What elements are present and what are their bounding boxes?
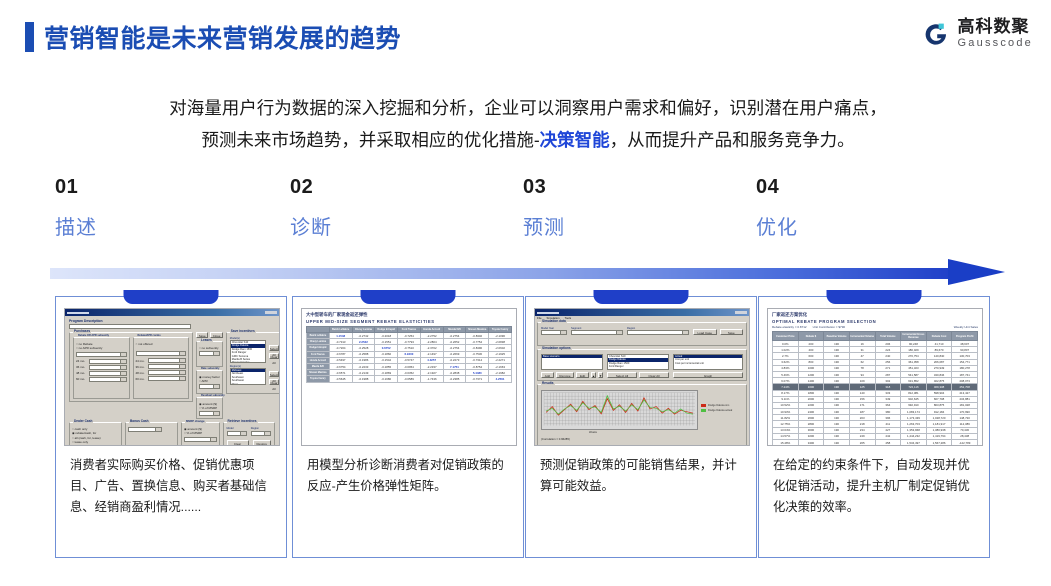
select-all-models-button[interactable]: Select All xyxy=(269,345,279,351)
model-select-list[interactable]: Chevrolet S10 Dodge Dakota Dodge Ram 150… xyxy=(607,354,669,370)
group-label-save-incentives: Save incentives xyxy=(230,329,256,333)
group-label-program-description: Program Description xyxy=(69,319,277,323)
card-describe[interactable]: Program Description Purchases Rebate OR … xyxy=(55,296,287,558)
term-36mo-label: 36 mo. xyxy=(76,365,88,369)
optim-cell: -122,789 xyxy=(952,440,978,446)
step-number: 04 xyxy=(756,176,966,199)
arrow-shaft xyxy=(50,268,955,279)
optim-col-header: Incremental Volume xyxy=(849,332,875,341)
matrix-cell: -0.2385 xyxy=(443,376,466,382)
optim-cell: 265 xyxy=(849,440,875,446)
matrix-cell: 4.2561 xyxy=(489,376,512,382)
model-list[interactable]: Chevrolet S10 Dodge Dakota Dodge Ram 150… xyxy=(230,340,266,363)
screenshot-program-description: Program Description Purchases Rebate OR … xyxy=(64,308,280,446)
card-tab xyxy=(124,290,219,304)
optim-col-header: Program Profit xyxy=(952,332,978,341)
table-sub-unit-sales: Weekly Unit Sales xyxy=(954,325,978,329)
matrix-cell: -0.6589 xyxy=(398,376,421,382)
bonus-cash-select[interactable] xyxy=(128,427,162,432)
title-accent-bar xyxy=(25,22,34,52)
step-number: 01 xyxy=(55,176,265,199)
term-36mo-select[interactable] xyxy=(89,365,127,370)
group-label-bonus-cash: Bonus Cash xyxy=(129,419,150,423)
optim-cell: 1,567,286 xyxy=(926,440,952,446)
combo-term-36mo-label: 36 mo. xyxy=(136,365,147,369)
lead-line-1: 对海量用户行为数据的深入挖掘和分析，企业可以洞察用户需求和偏好，识别潜在用户痛点… xyxy=(52,92,1004,124)
step-02: 02 诊断 xyxy=(290,176,500,240)
group-label-dealer-cash: Dealer Cash xyxy=(73,419,93,423)
combo-term-36mo-select[interactable] xyxy=(148,364,187,369)
step-03: 03 预测 xyxy=(523,176,733,240)
load-case-button[interactable]: Load Case xyxy=(693,329,717,335)
step-label: 预测 xyxy=(523,211,733,240)
screenshot-optimal-rebate: 厂家返还方案优化 OPTIMAL REBATE PROGRAM SELECTIO… xyxy=(767,308,983,446)
group-label-rebate-apr-subvently: Rebate OR APR subvently xyxy=(77,334,110,337)
combo-term-48mo-label: 48 mo. xyxy=(136,371,147,375)
group-label-rebate-apr-combo: Rebate/APR combo xyxy=(137,334,162,337)
card-tab xyxy=(594,290,689,304)
step-01: 01 描述 xyxy=(55,176,265,240)
move-down-button[interactable]: ▼ xyxy=(598,372,603,378)
optim-col-header: Total Volume xyxy=(875,332,901,341)
term-60mo-label: 60 mo. xyxy=(76,377,88,381)
table-title-en: UPPER MID-SIZE SEGMENT REBATE ELASTICITI… xyxy=(306,319,512,324)
simulation-chart xyxy=(541,390,698,430)
group-label-leases: Leases xyxy=(200,338,213,342)
slide-header: 营销智能是未来营销发展的趋势 高科数聚 Gausscode xyxy=(0,0,1051,70)
legend-item-sim: Dodge Dakota sim xyxy=(701,404,743,407)
group-label-rate-subvently: Rate subvently xyxy=(200,367,220,370)
card-optimize[interactable]: 厂家返还方案优化 OPTIMAL REBATE PROGRAM SELECTIO… xyxy=(758,296,990,558)
matrix-cell: -0.5645 xyxy=(329,376,352,382)
page-title: 营销智能是未来营销发展的趋势 xyxy=(44,19,401,55)
table-title-cn: 厂家返还方案优化 xyxy=(772,312,978,318)
elasticity-matrix: Buick LeSabreChevy LuminaDodge IntrepidF… xyxy=(306,326,512,383)
select-all-button[interactable]: Select All xyxy=(607,372,637,378)
msrp-value-select[interactable] xyxy=(184,437,217,442)
combo-term-48mo-select[interactable] xyxy=(148,370,187,375)
card-caption: 消费者实际购买价格、促销优惠项目、广告、置换信息、购买者基础信息、经销商盈利情况… xyxy=(70,455,274,518)
lead-line-2: 预测未来市场趋势，并采取相应的优化措施-决策智能，从而提升产品和服务竞争力。 xyxy=(52,124,1004,156)
group-label-simulation-data: Simulation data xyxy=(541,319,567,323)
term-60mo-select[interactable] xyxy=(89,377,127,382)
lead-highlight: 决策智能 xyxy=(540,130,610,150)
card-tab xyxy=(827,290,922,304)
card-caption: 用模型分析诊断消费者对促销政策的反应-产生价格弹性矩阵。 xyxy=(307,455,511,497)
region-select[interactable] xyxy=(627,330,689,335)
optim-col-header: Incremental Gross Revenue xyxy=(901,332,927,341)
subvently-amount-select[interactable] xyxy=(76,352,127,357)
model-option[interactable]: Nissan Frontier xyxy=(231,361,265,363)
step-label: 优化 xyxy=(756,211,966,240)
window-title-bar xyxy=(535,309,749,316)
table-title-cn: 大中型轿车的厂家现金返还弹性 xyxy=(306,312,512,318)
optim-cell: 15.48% xyxy=(773,440,799,446)
lease-cash-select[interactable] xyxy=(199,351,220,356)
legend-item-actual: Dodge Dakota actual xyxy=(701,409,743,412)
step-number: 02 xyxy=(290,176,500,199)
combo-amount-select[interactable] xyxy=(136,351,187,356)
graph-button[interactable]: Graph xyxy=(673,372,743,378)
optim-cell: 190 xyxy=(824,440,850,446)
clear-all-models-button[interactable]: Clear All xyxy=(269,353,279,359)
optim-cell: 1,534,497 xyxy=(901,440,927,446)
clear-all-button[interactable]: Clear All xyxy=(639,372,669,378)
screenshot-simulation: File Simulation Tools Simulation data Mo… xyxy=(534,308,750,446)
optimization-table: Customer PriceRebate $Baseline VolumeInc… xyxy=(772,331,978,446)
legend-label-sim: Dodge Dakota sim xyxy=(708,404,729,407)
group-label-msrp-change: MSRP change xyxy=(185,419,206,423)
step-label: 描述 xyxy=(55,211,265,240)
card-predict[interactable]: File Simulation Tools Simulation data Mo… xyxy=(525,296,757,558)
step-number: 03 xyxy=(523,176,733,199)
combo-term-24mo-select[interactable] xyxy=(148,358,187,363)
matrix-cell: -0.1988 xyxy=(352,376,375,382)
output-list[interactable]: Actual Unit per unit Cost per incrementa… xyxy=(673,354,743,370)
region-option[interactable]: West xyxy=(231,383,265,385)
chart-footnote: (Correlation = 0.96285) xyxy=(541,437,743,441)
combo-term-24mo-label: 24 mo. xyxy=(136,359,147,363)
group-label-results: Results xyxy=(541,381,555,385)
card-tab xyxy=(361,290,456,304)
group-label-residual-subvently: Residual subvently xyxy=(200,394,226,397)
radio-not-offered[interactable]: ○ not offered xyxy=(136,342,187,346)
card-caption: 预测促销政策的可能销售结果，并计算可能效益。 xyxy=(540,455,744,497)
select-all-regions-button[interactable]: Select All xyxy=(269,371,279,377)
optim-col-header: Rebate Cost xyxy=(926,332,952,341)
combo-term-60mo-label: 60 mo. xyxy=(136,377,147,381)
card-caption: 在给定的约束条件下，自动发现并优化促销活动，提升主机厂制定促销优化决策的效率。 xyxy=(773,455,977,518)
radio-no-subvently[interactable]: ○ no subvently xyxy=(199,346,220,350)
add-button[interactable]: Add xyxy=(541,372,554,378)
optim-cell: 458 xyxy=(875,440,901,446)
matrix-cell: -0.1680 xyxy=(375,376,398,382)
group-label-purchases: Purchases xyxy=(73,329,91,333)
legend-swatch-actual xyxy=(701,409,706,412)
legend-swatch-sim xyxy=(701,404,706,407)
scenario-option-selected[interactable]: Base scenario xyxy=(542,355,602,358)
lead-paragraph: 对海量用户行为数据的深入挖掘和分析，企业可以洞察用户需求和偏好，识别潜在用户痛点… xyxy=(52,92,1004,156)
matrix-cell: -1.7436 xyxy=(420,376,443,382)
retrieve-region-select[interactable] xyxy=(251,431,271,436)
chart-axis-label: Weeks xyxy=(541,431,645,434)
gausscode-logo-icon xyxy=(921,19,951,49)
region-list[interactable]: Midwest Northeast Southeast Southwest We… xyxy=(230,368,266,385)
term-48mo-label: 48 mo. xyxy=(76,371,88,375)
table-sub-contribution: Unit Contribution = $790 xyxy=(813,325,845,329)
brand-logo: 高科数聚 Gausscode xyxy=(921,18,1033,49)
optim-cell: 3400 xyxy=(798,440,824,446)
group-label-simulation-options: Simulation options xyxy=(541,346,572,350)
save-case-button[interactable]: Save xyxy=(720,329,744,335)
segment-select[interactable] xyxy=(571,330,623,335)
remove-button[interactable]: Remove xyxy=(556,372,574,378)
output-option[interactable]: Cost per incremental unit xyxy=(674,362,742,365)
logo-text-en: Gausscode xyxy=(958,38,1033,49)
optim-col-header: Baseline Volume xyxy=(824,332,850,341)
window-title-bar xyxy=(65,309,279,316)
residual-value-select[interactable] xyxy=(199,411,220,416)
model-year-select[interactable] xyxy=(541,330,567,335)
move-up-button[interactable]: ▲ xyxy=(591,372,596,378)
card-row: Program Description Purchases Rebate OR … xyxy=(0,296,1051,566)
group-label-retrieve-incentives: Retrieve incentives xyxy=(227,419,258,423)
scenario-list[interactable]: Base scenario xyxy=(541,354,603,370)
clear-all-regions-button[interactable]: Clear All xyxy=(269,379,279,385)
logo-text-cn: 高科数聚 xyxy=(958,18,1033,35)
arrow-head xyxy=(948,259,1005,285)
table-sub-elasticity: Rebate elasticity = 0.8712 xyxy=(772,325,807,329)
legend-label-actual: Dodge Dakota actual xyxy=(708,409,732,412)
model-option[interactable]: Ford Ranger xyxy=(608,365,668,368)
process-arrow xyxy=(50,262,1005,288)
screenshot-rebate-elasticities: 大中型轿车的厂家现金返还弹性 UPPER MID-SIZE SEGMENT RE… xyxy=(301,308,517,446)
radio-msrp-pct[interactable]: ○ % of MSRP xyxy=(184,431,217,435)
step-04: 04 优化 xyxy=(756,176,966,240)
step-label: 诊断 xyxy=(290,211,500,240)
step-header-row: 01 描述 02 诊断 03 预测 04 优化 xyxy=(0,176,1051,246)
table-title-en: OPTIMAL REBATE PROGRAM SELECTION xyxy=(772,319,978,324)
table-row: 15.48%34001902654581,534,4971,567,286-12… xyxy=(773,440,978,446)
matrix-cell: -0.7371 xyxy=(466,376,489,382)
retrieve-model-select[interactable] xyxy=(227,431,247,436)
combo-term-60mo-select[interactable] xyxy=(148,376,187,381)
clear-button[interactable]: Clear xyxy=(227,440,249,446)
term-48mo-select[interactable] xyxy=(89,371,127,376)
table-row: Toyota Camry-0.5645-0.1988-0.1680-0.6589… xyxy=(307,376,512,382)
lead-line-2-prefix: 预测未来市场趋势，并采取相应的优化措施- xyxy=(201,130,539,150)
lead-line-2-suffix: ，从而提升产品和服务竞争力。 xyxy=(610,130,855,150)
edit-button[interactable]: Edit xyxy=(576,372,589,378)
matrix-row-header: Toyota Camry xyxy=(307,376,330,382)
radio-lease-only[interactable]: ○ lease only xyxy=(72,440,119,444)
radio-no-apr-subvently[interactable]: ○ no APR subvently xyxy=(76,346,127,350)
restore-environment-button[interactable]: Restore current environment xyxy=(253,440,272,446)
rate-value-select[interactable] xyxy=(199,384,220,389)
slide-root: 营销智能是未来营销发展的趋势 高科数聚 Gausscode 对海量用户行为数据的… xyxy=(0,0,1051,586)
optim-col-header: Rebate $ xyxy=(798,332,824,341)
term-24mo-select[interactable] xyxy=(89,359,127,364)
term-24mo-label: 24 mo. xyxy=(76,359,88,363)
optim-col-header: Customer Price xyxy=(773,332,799,341)
card-diagnose[interactable]: 大中型轿车的厂家现金返还弹性 UPPER MID-SIZE SEGMENT RE… xyxy=(292,296,524,558)
